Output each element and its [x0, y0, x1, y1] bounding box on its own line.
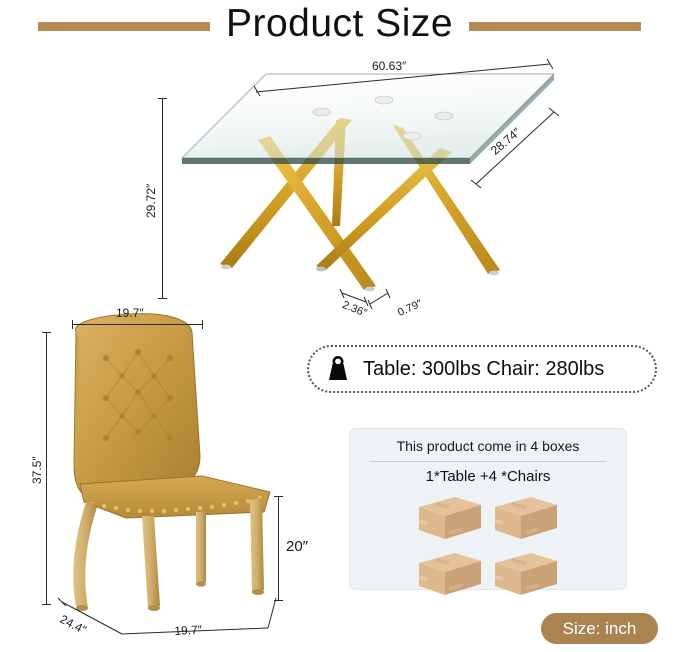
packaging-contents: 1*Table +4 *Chairs	[350, 468, 626, 485]
table-illustration: 60.63″ 28.74″ 29.72″	[140, 58, 570, 308]
chair-bottom-width-label: 19.7″	[174, 623, 202, 638]
table-height-tick-bottom	[158, 298, 167, 299]
chair-height-tick-top	[42, 332, 51, 333]
table-width-label: 60.63″	[372, 59, 406, 73]
chair-top-width-tick-left	[72, 320, 73, 329]
table-height-label: 29.72″	[144, 184, 158, 218]
table-height-dimension-line	[162, 98, 163, 298]
chair-top-width-tick-right	[202, 320, 203, 329]
table-depth-dimension	[460, 102, 570, 194]
carton-box	[415, 547, 485, 599]
table-width-dimension	[250, 58, 570, 100]
product-size-infographic: Product Size	[0, 0, 679, 652]
packaging-divider	[370, 461, 606, 462]
header: Product Size	[0, 0, 679, 52]
size-unit-badge: Size: inch	[541, 613, 658, 644]
carton-box	[491, 547, 561, 599]
page-title: Product Size	[226, 4, 453, 49]
weight-capacity-badge: Table: 300lbs Chair: 280lbs	[307, 345, 657, 393]
chair-top-width-label: 19.7″	[116, 306, 144, 320]
table-height-tick-top	[158, 98, 167, 99]
packaging-heading: This product come in 4 boxes	[350, 438, 626, 461]
chair-top-width-line	[72, 324, 202, 325]
carton-box	[491, 491, 561, 543]
carton-box	[415, 491, 485, 543]
chair-height-line	[46, 332, 47, 604]
chair-seat-height-label: 20″	[286, 538, 308, 555]
carton-grid	[350, 491, 626, 599]
chair-seat-height-tick-top	[274, 496, 283, 497]
chair-height-label: 37.5″	[30, 456, 44, 484]
header-rule-left	[38, 22, 210, 31]
weight-icon	[323, 354, 353, 384]
header-rule-right	[469, 22, 641, 31]
chair-graphic	[34, 306, 314, 636]
weight-capacity-text: Table: 300lbs Chair: 280lbs	[363, 358, 604, 381]
packaging-panel: This product come in 4 boxes 1*Table +4 …	[349, 428, 627, 590]
size-unit-text: Size: inch	[563, 619, 637, 639]
chair-seat-height-line	[278, 496, 279, 600]
chair-illustration: 19.7″ 37.5″ 20″ 24.4″ 19.7″	[34, 306, 314, 636]
